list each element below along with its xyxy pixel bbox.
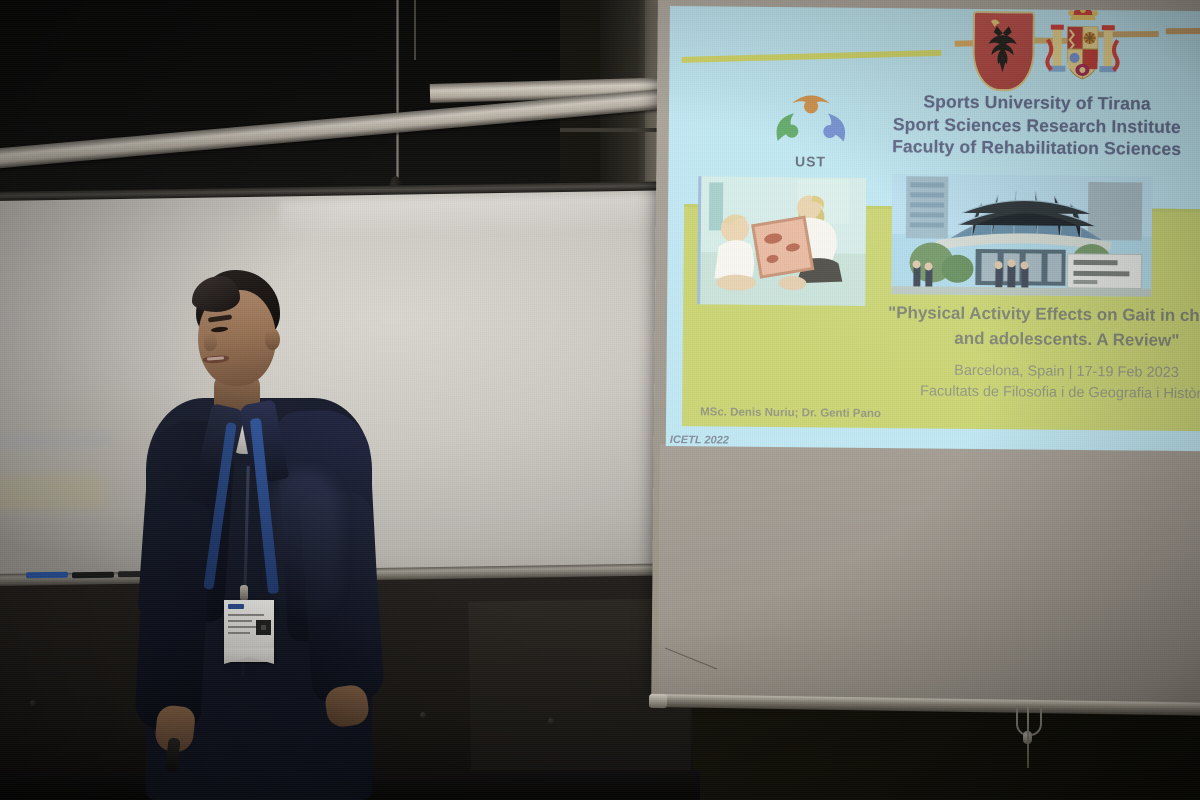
slide-header-line-3: Faculty of Rehabilitation Sciences: [865, 135, 1200, 161]
presentation-room-photo: UST Sports University of Tirana Sport Sc…: [0, 0, 1200, 800]
slide-title-line-2: and adolescents. A Review": [867, 325, 1200, 354]
ust-logo-label: UST: [771, 153, 849, 170]
presenter-jacket-highlight: [270, 470, 340, 620]
projected-slide: UST Sports University of Tirana Sport Sc…: [666, 6, 1200, 451]
photo-faculty-building: [891, 174, 1152, 296]
slide-title-line-1: "Physical Activity Effects on Gait in ch…: [867, 300, 1200, 329]
projection-screen-blank-area: [658, 444, 1200, 707]
slide-authors: MSc. Denis Nuriu; Dr. Genti Pano: [700, 406, 881, 420]
badge-text-line-1: [228, 614, 264, 616]
slide-title: "Physical Activity Effects on Gait in ch…: [867, 300, 1200, 354]
ceiling-hanger-rod: [396, 0, 399, 185]
badge-text-line-4: [228, 632, 250, 634]
wall-fixture-right: [548, 718, 554, 724]
spain-coat-of-arms-icon: [1039, 10, 1126, 93]
presenter-arm-left: [134, 498, 212, 731]
screen-pull-cord[interactable]: [1027, 706, 1029, 768]
whiteboard-ghost-patch: [0, 474, 104, 510]
presenter-ear: [265, 328, 280, 350]
lanyard-clip: [240, 585, 248, 601]
ceiling-hanger-rod-secondary: [414, 0, 416, 60]
decorative-rule-orange-4: [1166, 28, 1200, 34]
badge-qr-code-icon: [256, 620, 271, 635]
presenter-nose: [204, 333, 217, 351]
wall-fixture-left: [30, 700, 36, 706]
black-marker[interactable]: [72, 572, 114, 579]
presenter: [120, 270, 420, 800]
wall-fixture-mid: [420, 712, 426, 718]
blue-marker[interactable]: [26, 572, 68, 579]
slide-header: Sports University of Tirana Sport Scienc…: [865, 90, 1200, 161]
slide-footer: ICETL 2022: [670, 434, 729, 447]
slide-venue-line-2: Facultats de Filosofia i de Geografia i …: [866, 381, 1200, 406]
badge-logo-icon: [228, 604, 244, 609]
whiteboard-sheen: [280, 195, 691, 237]
badge-text-line-3: [228, 626, 258, 628]
decorative-rule-green: [681, 50, 941, 63]
slide-venue: Barcelona, Spain | 17-19 Feb 2023 Facult…: [866, 360, 1200, 406]
slide-header-line-1: Sports University of Tirana: [865, 90, 1200, 116]
slide-header-line-2: Sport Sciences Research Institute: [865, 112, 1200, 138]
albania-coat-of-arms-icon: [972, 11, 1035, 92]
photo-therapy-session: [697, 176, 866, 306]
badge-text-line-2: [228, 620, 252, 622]
projection-screen-bar-end-cap: [649, 694, 667, 708]
whiteboard-ghost-streak: [0, 431, 112, 449]
presenter-hair-front: [192, 276, 240, 312]
